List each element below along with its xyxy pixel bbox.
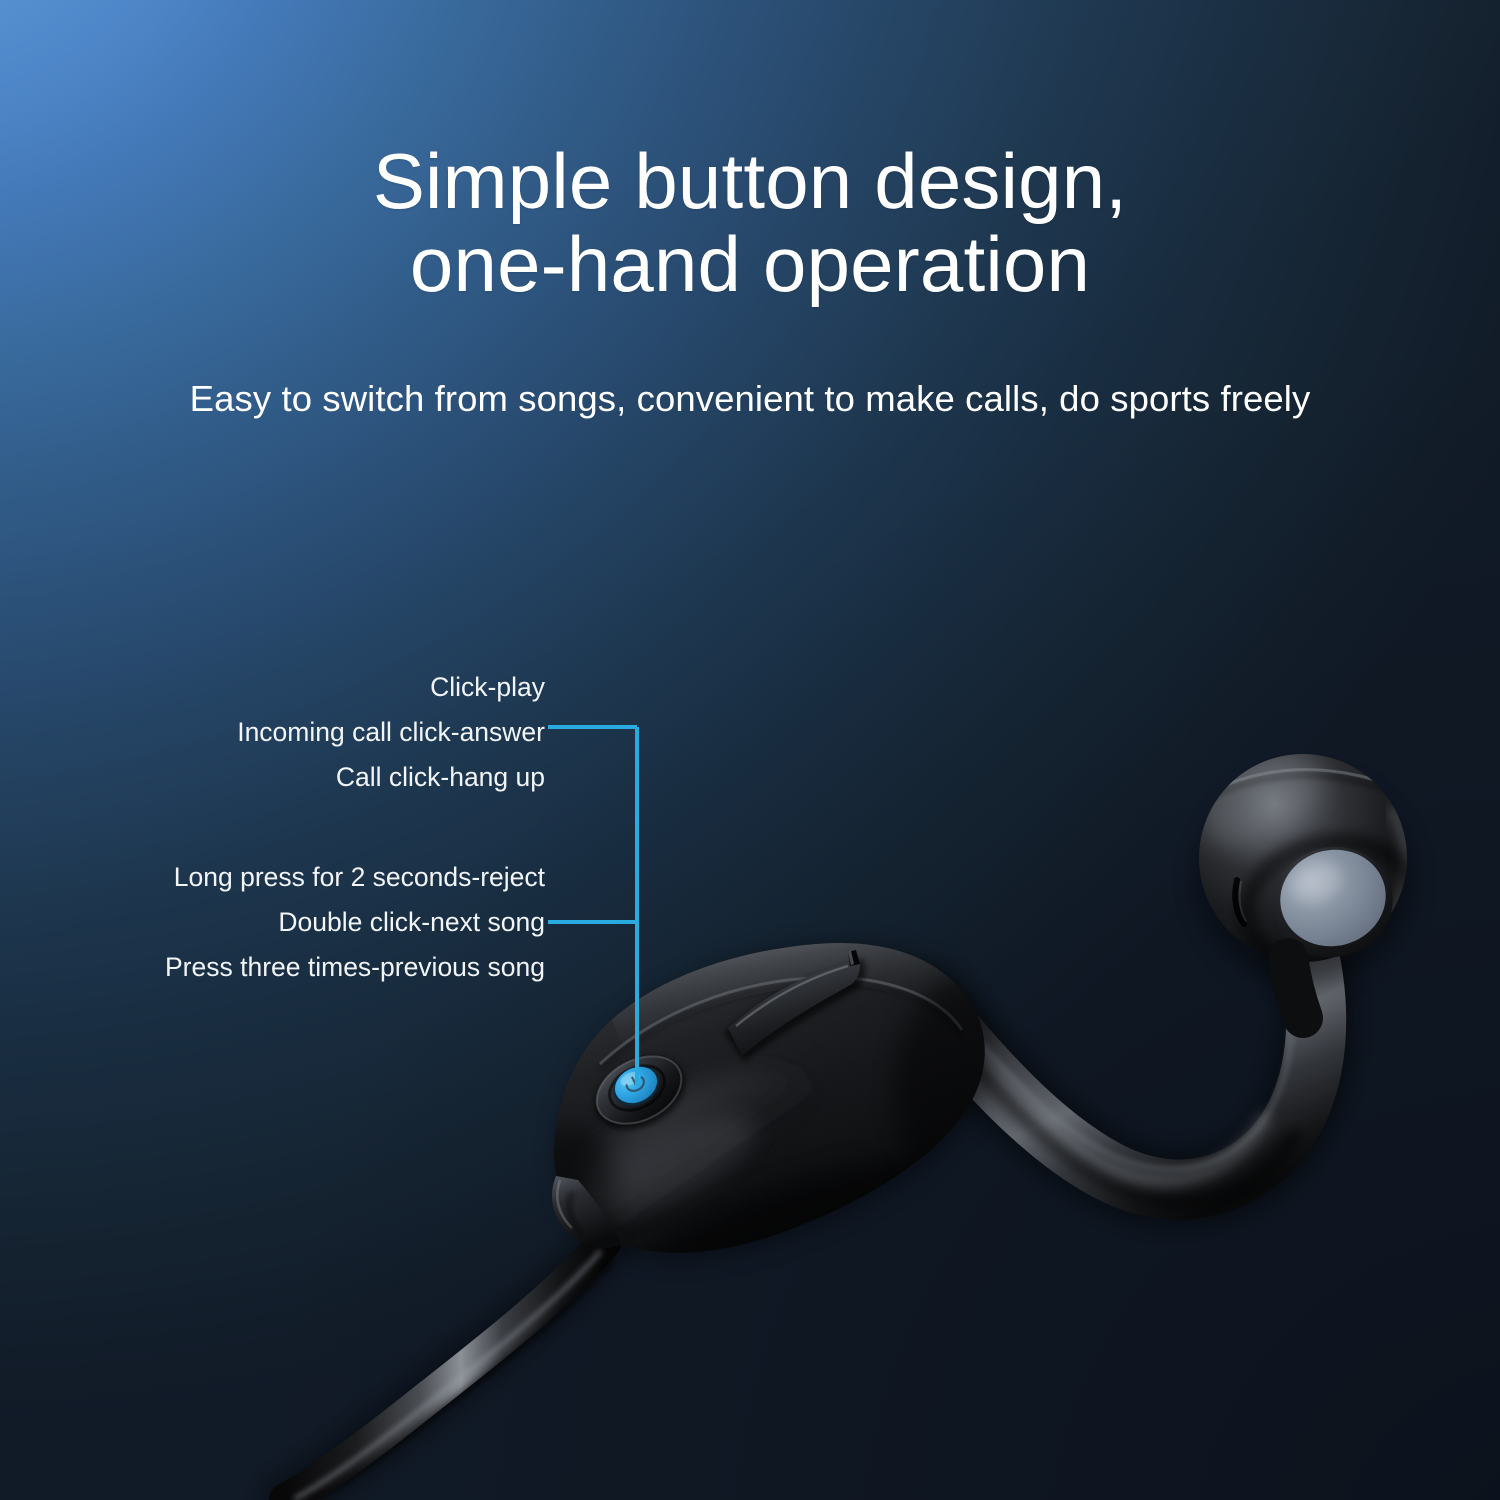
headline-line-2: one-hand operation	[90, 223, 1410, 306]
infographic-canvas: Simple button design, one-hand operation…	[0, 0, 1500, 1500]
annotation-long-press-reject: Long press for 2 seconds-reject	[0, 855, 545, 900]
page-subtitle: Easy to switch from songs, convenient to…	[0, 378, 1500, 420]
annotation-hang-up: Call click-hang up	[0, 755, 545, 800]
annotation-click-play: Click-play	[0, 665, 545, 710]
annotation-group-music-controls: Long press for 2 seconds-reject Double c…	[0, 855, 545, 990]
annotation-group-call-controls: Click-play Incoming call click-answer Ca…	[0, 665, 545, 800]
page-title: Simple button design, one-hand operation	[0, 140, 1500, 305]
annotation-double-click-next: Double click-next song	[0, 900, 545, 945]
neckband-cable	[286, 1243, 612, 1500]
control-module	[514, 930, 1055, 1363]
headline-line-1: Simple button design,	[373, 137, 1127, 225]
earbud	[1180, 733, 1425, 1018]
annotation-incoming-call: Incoming call click-answer	[0, 710, 545, 755]
ear-hook	[932, 940, 1316, 1203]
annotation-triple-press-prev: Press three times-previous song	[0, 945, 545, 990]
